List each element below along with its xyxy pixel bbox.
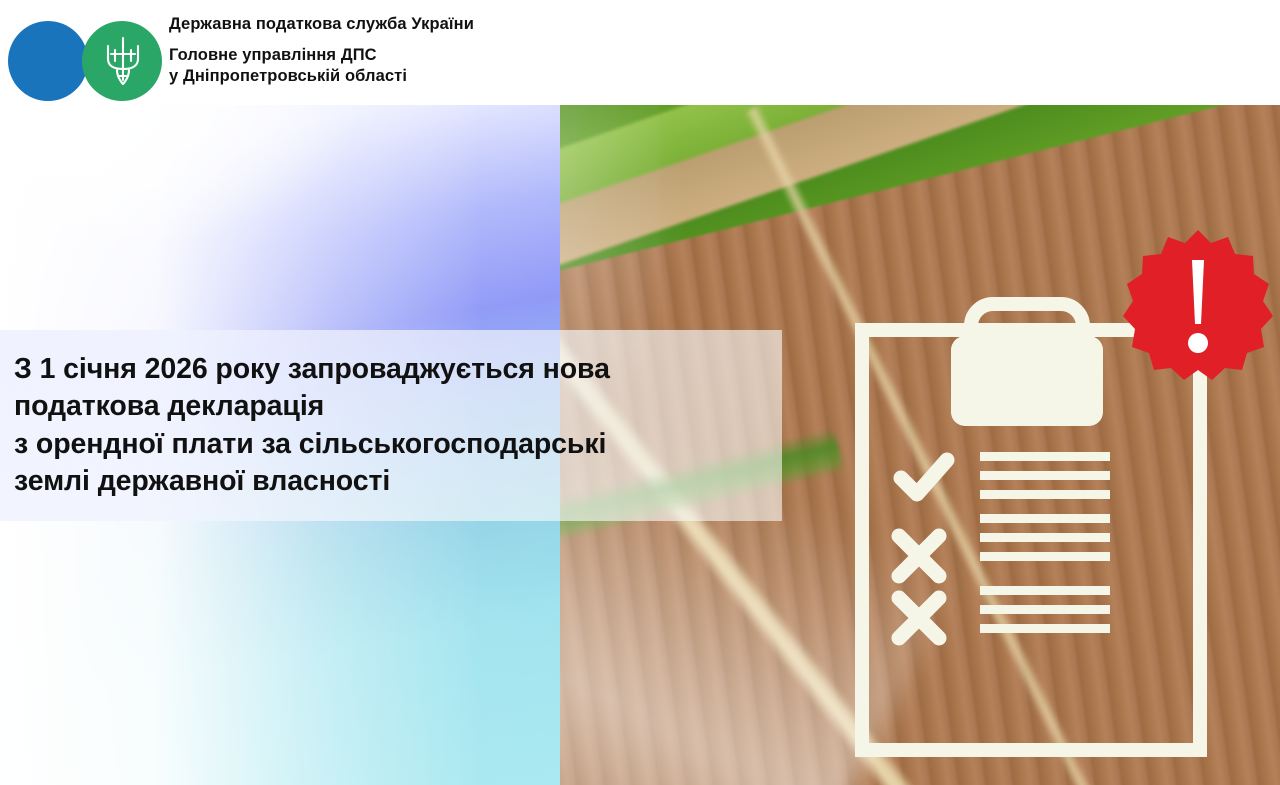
text-line xyxy=(980,490,1110,499)
text-line xyxy=(980,471,1110,480)
text-line xyxy=(980,605,1110,614)
text-line xyxy=(980,452,1110,461)
header-bar: Державна податкова служба України Головн… xyxy=(0,0,1280,105)
headline-line-1: З 1 січня 2026 року запроваджується нова xyxy=(14,351,770,388)
text-line xyxy=(980,552,1110,561)
headline-line-2: податкова декларація xyxy=(14,388,770,425)
text-line xyxy=(980,624,1110,633)
text-line xyxy=(980,533,1110,542)
exclamation-dot xyxy=(1188,333,1208,353)
department-name: Головне управління ДПС у Дніпропетровськ… xyxy=(169,45,474,88)
logo xyxy=(0,0,165,105)
clipboard-clip-body xyxy=(951,336,1103,426)
department-name-line-1: Головне управління ДПС xyxy=(169,45,474,66)
headline-line-4: землі державної власності xyxy=(14,463,770,500)
ukraine-trident-icon xyxy=(104,36,142,88)
cross-icon xyxy=(899,536,939,576)
department-name-line-2: у Дніпропетровській області xyxy=(169,66,474,87)
poster-canvas: З 1 січня 2026 року запроваджується нова… xyxy=(0,0,1280,785)
header-text-block: Державна податкова служба України Головн… xyxy=(165,15,474,89)
agency-name: Державна податкова служба України xyxy=(169,15,474,33)
text-line xyxy=(980,514,1110,523)
blue-circle-mark xyxy=(8,21,88,101)
headline-line-3: з орендної плати за сільськогосподарські xyxy=(14,426,770,463)
headline-panel: З 1 січня 2026 року запроваджується нова… xyxy=(0,330,782,521)
exclamation-starburst-icon xyxy=(1118,226,1278,386)
cross-icon xyxy=(899,598,939,638)
checkmark-icon xyxy=(901,460,947,494)
text-line xyxy=(980,586,1110,595)
